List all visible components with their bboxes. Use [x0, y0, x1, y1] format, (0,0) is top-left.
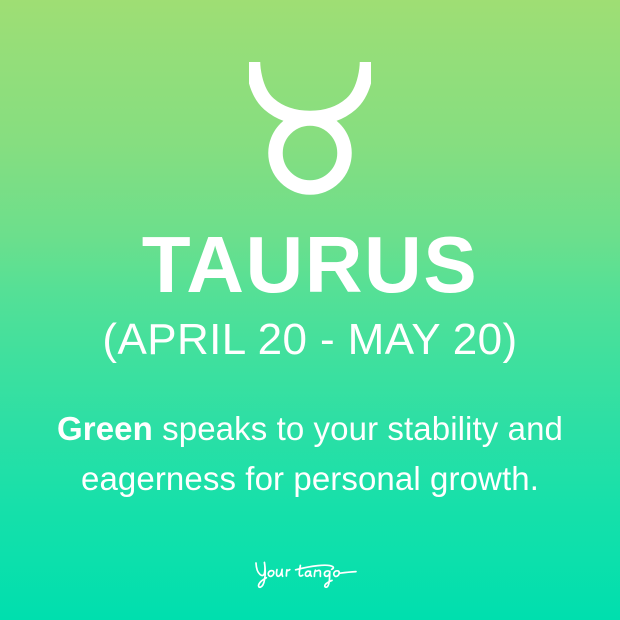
taurus-zodiac-card: TAURUS (APRIL 20 - MAY 20) Green speaks …	[0, 0, 620, 620]
yourtango-logo-icon	[252, 554, 368, 590]
sign-name: TAURUS	[0, 225, 620, 305]
taurus-zodiac-icon	[249, 56, 371, 196]
description-line-1-rest: speaks to your stability and	[153, 410, 563, 447]
zodiac-glyph-container	[0, 56, 620, 196]
description-line-2: eagerness for personal growth.	[40, 454, 580, 504]
sign-date-range: (APRIL 20 - MAY 20)	[0, 318, 620, 362]
sign-description: Green speaks to your stability and eager…	[40, 404, 580, 504]
description-keyword: Green	[57, 410, 153, 447]
brand-logo: YourTango	[0, 554, 620, 590]
description-line-1: Green speaks to your stability and	[40, 404, 580, 454]
